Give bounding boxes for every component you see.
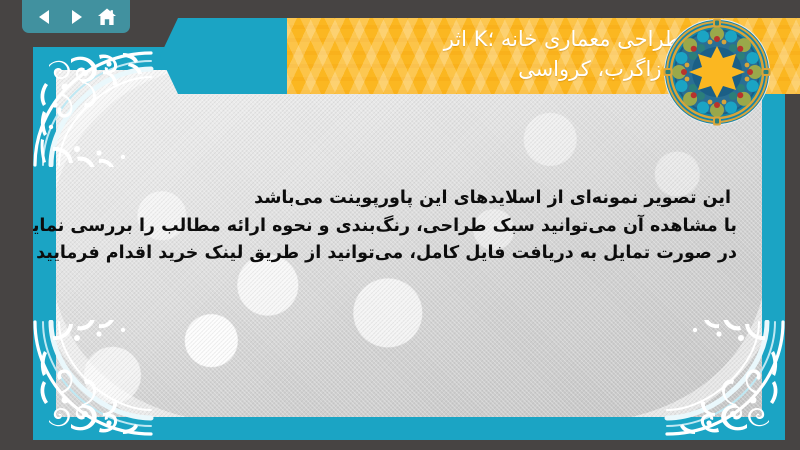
banner-teal-cap [255, 18, 287, 94]
triangle-left-icon[interactable] [35, 7, 55, 27]
corner-sweep-bottom-left [56, 251, 242, 417]
corner-sweep-bottom-right [576, 251, 762, 417]
triangle-right-icon[interactable] [66, 7, 86, 27]
navigation-bar [22, 0, 130, 33]
slide-body-text: این تصویر نمونه‌ای از اسلایدهای این پاور… [93, 185, 737, 268]
body-line-2: با مشاهده آن می‌توانید سبک طراحی، رنگ‌بن… [93, 213, 737, 241]
body-line-1: این تصویر نمونه‌ای از اسلایدهای این پاور… [93, 185, 737, 213]
body-line-3: در صورت تمایل به دریافت فایل کامل، می‌تو… [93, 240, 737, 268]
ornamental-medallion-icon [663, 18, 771, 126]
banner-chevron [160, 18, 260, 94]
slide-viewer: این تصویر نمونه‌ای از اسلایدهای این پاور… [0, 0, 800, 450]
home-icon[interactable] [97, 7, 117, 27]
